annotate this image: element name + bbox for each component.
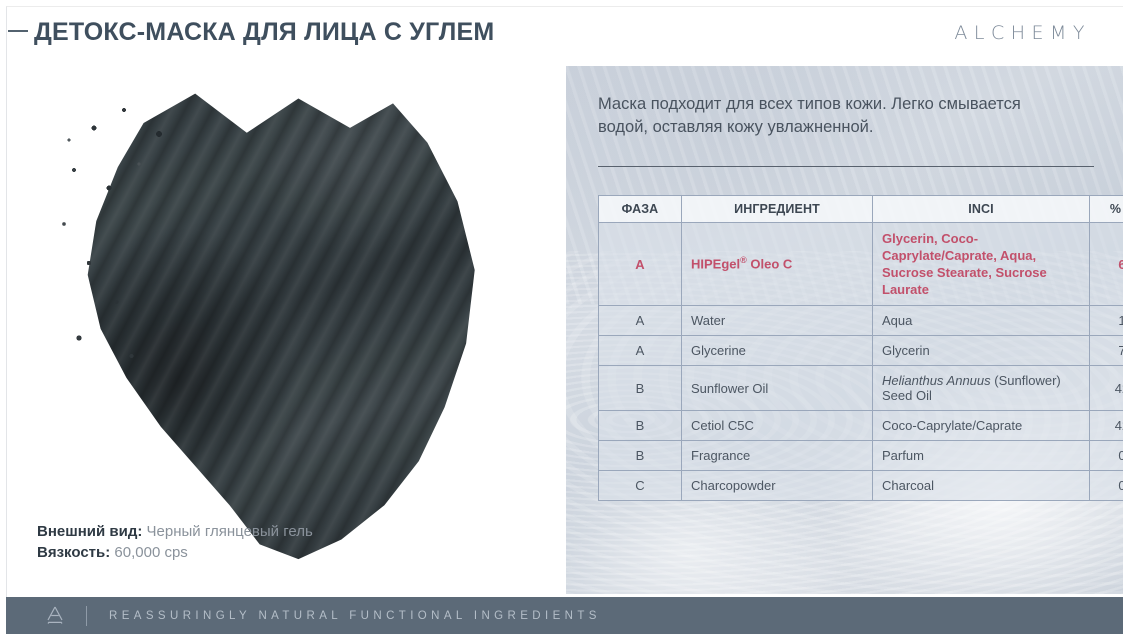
table-row: B Fragrance Parfum 0.50 (599, 441, 1124, 471)
column-header-percent: % W/W (1090, 195, 1124, 222)
ingredients-table: ФАЗА ИНГРЕДИЕНТ INCI % W/W A HIPEgel® Ol… (598, 195, 1123, 502)
cell-phase: A (599, 336, 682, 366)
footer-divider (86, 606, 87, 626)
cell-ingredient: HIPEgel® Oleo C (682, 222, 873, 306)
cell-ingredient: Fragrance (682, 441, 873, 471)
cell-inci: Glycerin (873, 336, 1090, 366)
viscosity-value: 60,000 cps (114, 544, 187, 561)
charcoal-smear-image (7, 52, 567, 594)
product-photo: Внешний вид: Черный глянцевый гель Вязко… (7, 52, 567, 594)
cell-inci: Charcoal (873, 471, 1090, 501)
cell-percent: 0.50 (1090, 441, 1124, 471)
ingredient-name: HIPEgel (691, 257, 740, 272)
cell-percent: 1.50 (1090, 306, 1124, 336)
cell-inci: Helianthus Annuus (Sunflower) Seed Oil (873, 366, 1090, 411)
column-header-ingredient: ИНГРЕДИЕНТ (682, 195, 873, 222)
cell-phase: A (599, 222, 682, 306)
cell-phase: B (599, 366, 682, 411)
slide-footer: REASSURINGLY NATURAL FUNCTIONAL INGREDIE… (6, 597, 1123, 634)
info-panel: Маска подходит для всех типов кожи. Легк… (566, 66, 1123, 594)
smear-speckles (49, 92, 299, 392)
alchemy-a-monogram-icon (38, 604, 72, 628)
cell-percent: 6.00 (1090, 222, 1124, 306)
cell-percent: 42.00 (1090, 411, 1124, 441)
cell-phase: C (599, 471, 682, 501)
table-row: A Water Aqua 1.50 (599, 306, 1124, 336)
table-row: B Sunflower Oil Helianthus Annuus (Sunfl… (599, 366, 1124, 411)
cell-ingredient: Water (682, 306, 873, 336)
cell-percent: 7.50 (1090, 336, 1124, 366)
inci-botanical-name: Helianthus Annuus (882, 373, 991, 388)
cell-inci: Aqua (873, 306, 1090, 336)
registered-mark-icon: ® (740, 255, 747, 265)
footer-tagline: REASSURINGLY NATURAL FUNCTIONAL INGREDIE… (109, 610, 601, 622)
table-row: B Cetiol C5C Coco-Caprylate/Caprate 42.0… (599, 411, 1124, 441)
table-header-row: ФАЗА ИНГРЕДИЕНТ INCI % W/W (599, 195, 1124, 222)
section-divider (598, 166, 1094, 167)
cell-percent: 42.00 (1090, 366, 1124, 411)
viscosity-label: Вязкость: (37, 544, 110, 561)
dash-icon (8, 30, 28, 32)
cell-phase: B (599, 441, 682, 471)
table-row: C Charcopowder Charcoal 0.50 (599, 471, 1124, 501)
cell-ingredient: Glycerine (682, 336, 873, 366)
cell-inci: Parfum (873, 441, 1090, 471)
alchemy-logo: ALCHEMY (954, 22, 1091, 44)
slide-header: ДЕТОКС-МАСКА ДЛЯ ЛИЦА С УГЛЕМ ALCHEMY (0, 0, 1117, 58)
appearance-line: Внешний вид: Черный глянцевый гель (37, 521, 313, 543)
table-row: A HIPEgel® Oleo C Glycerin, Coco-Capryla… (599, 222, 1124, 306)
ingredient-suffix: Oleo C (747, 257, 793, 272)
cell-percent: 0.50 (1090, 471, 1124, 501)
cell-phase: B (599, 411, 682, 441)
photo-caption: Внешний вид: Черный глянцевый гель Вязко… (37, 521, 313, 565)
viscosity-line: Вязкость: 60,000 cps (37, 542, 313, 564)
appearance-value: Черный глянцевый гель (147, 523, 313, 540)
page-title: ДЕТОКС-МАСКА ДЛЯ ЛИЦА С УГЛЕМ (34, 18, 494, 47)
slide-root: ДЕТОКС-МАСКА ДЛЯ ЛИЦА С УГЛЕМ ALCHEMY Вн… (0, 0, 1129, 640)
table-row: A Glycerine Glycerin 7.50 (599, 336, 1124, 366)
cell-ingredient: Cetiol C5C (682, 411, 873, 441)
cell-inci: Coco-Caprylate/Caprate (873, 411, 1090, 441)
lead-description: Маска подходит для всех типов кожи. Легк… (598, 93, 1038, 140)
cell-phase: A (599, 306, 682, 336)
column-header-inci: INCI (873, 195, 1090, 222)
cell-ingredient: Charcopowder (682, 471, 873, 501)
table-body: A HIPEgel® Oleo C Glycerin, Coco-Capryla… (599, 222, 1124, 501)
appearance-label: Внешний вид: (37, 523, 142, 540)
cell-inci: Glycerin, Coco-Caprylate/Caprate, Aqua, … (873, 222, 1090, 306)
cell-ingredient: Sunflower Oil (682, 366, 873, 411)
column-header-phase: ФАЗА (599, 195, 682, 222)
